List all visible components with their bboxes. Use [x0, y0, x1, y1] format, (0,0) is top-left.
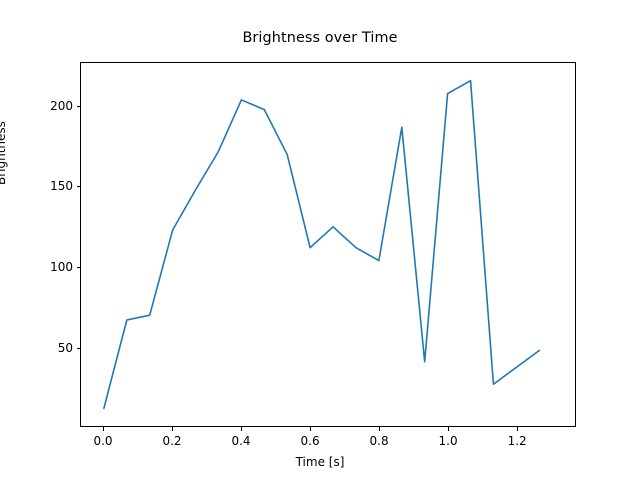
y-tick-label: 50: [38, 341, 73, 355]
y-tick-label: 100: [38, 260, 73, 274]
y-tick-mark: [77, 348, 81, 349]
x-tick-mark: [379, 427, 380, 431]
x-tick-mark: [517, 427, 518, 431]
x-tick-label: 0.0: [93, 434, 112, 448]
y-tick-label: 150: [38, 179, 73, 193]
chart-title: Brightness over Time: [0, 30, 640, 46]
y-tick-label: 200: [38, 99, 73, 113]
y-tick-mark: [77, 267, 81, 268]
data-polyline: [104, 81, 539, 409]
x-tick-label: 0.2: [162, 434, 181, 448]
chart-figure: Brightness over Time 0.00.20.40.60.81.01…: [0, 0, 640, 480]
x-tick-mark: [448, 427, 449, 431]
x-tick-label: 0.4: [231, 434, 250, 448]
y-tick-mark: [77, 186, 81, 187]
x-tick-label: 0.6: [301, 434, 320, 448]
x-tick-mark: [241, 427, 242, 431]
x-tick-label: 1.2: [508, 434, 527, 448]
y-tick-mark: [77, 106, 81, 107]
x-axis-label: Time [s]: [0, 455, 640, 469]
x-tick-mark: [310, 427, 311, 431]
x-tick-mark: [172, 427, 173, 431]
x-tick-label: 1.0: [439, 434, 458, 448]
plot-area: [80, 62, 576, 427]
y-axis-label: Brightness: [0, 121, 8, 185]
x-tick-label: 0.8: [370, 434, 389, 448]
x-tick-mark: [103, 427, 104, 431]
line-series-brightness: [81, 63, 575, 426]
